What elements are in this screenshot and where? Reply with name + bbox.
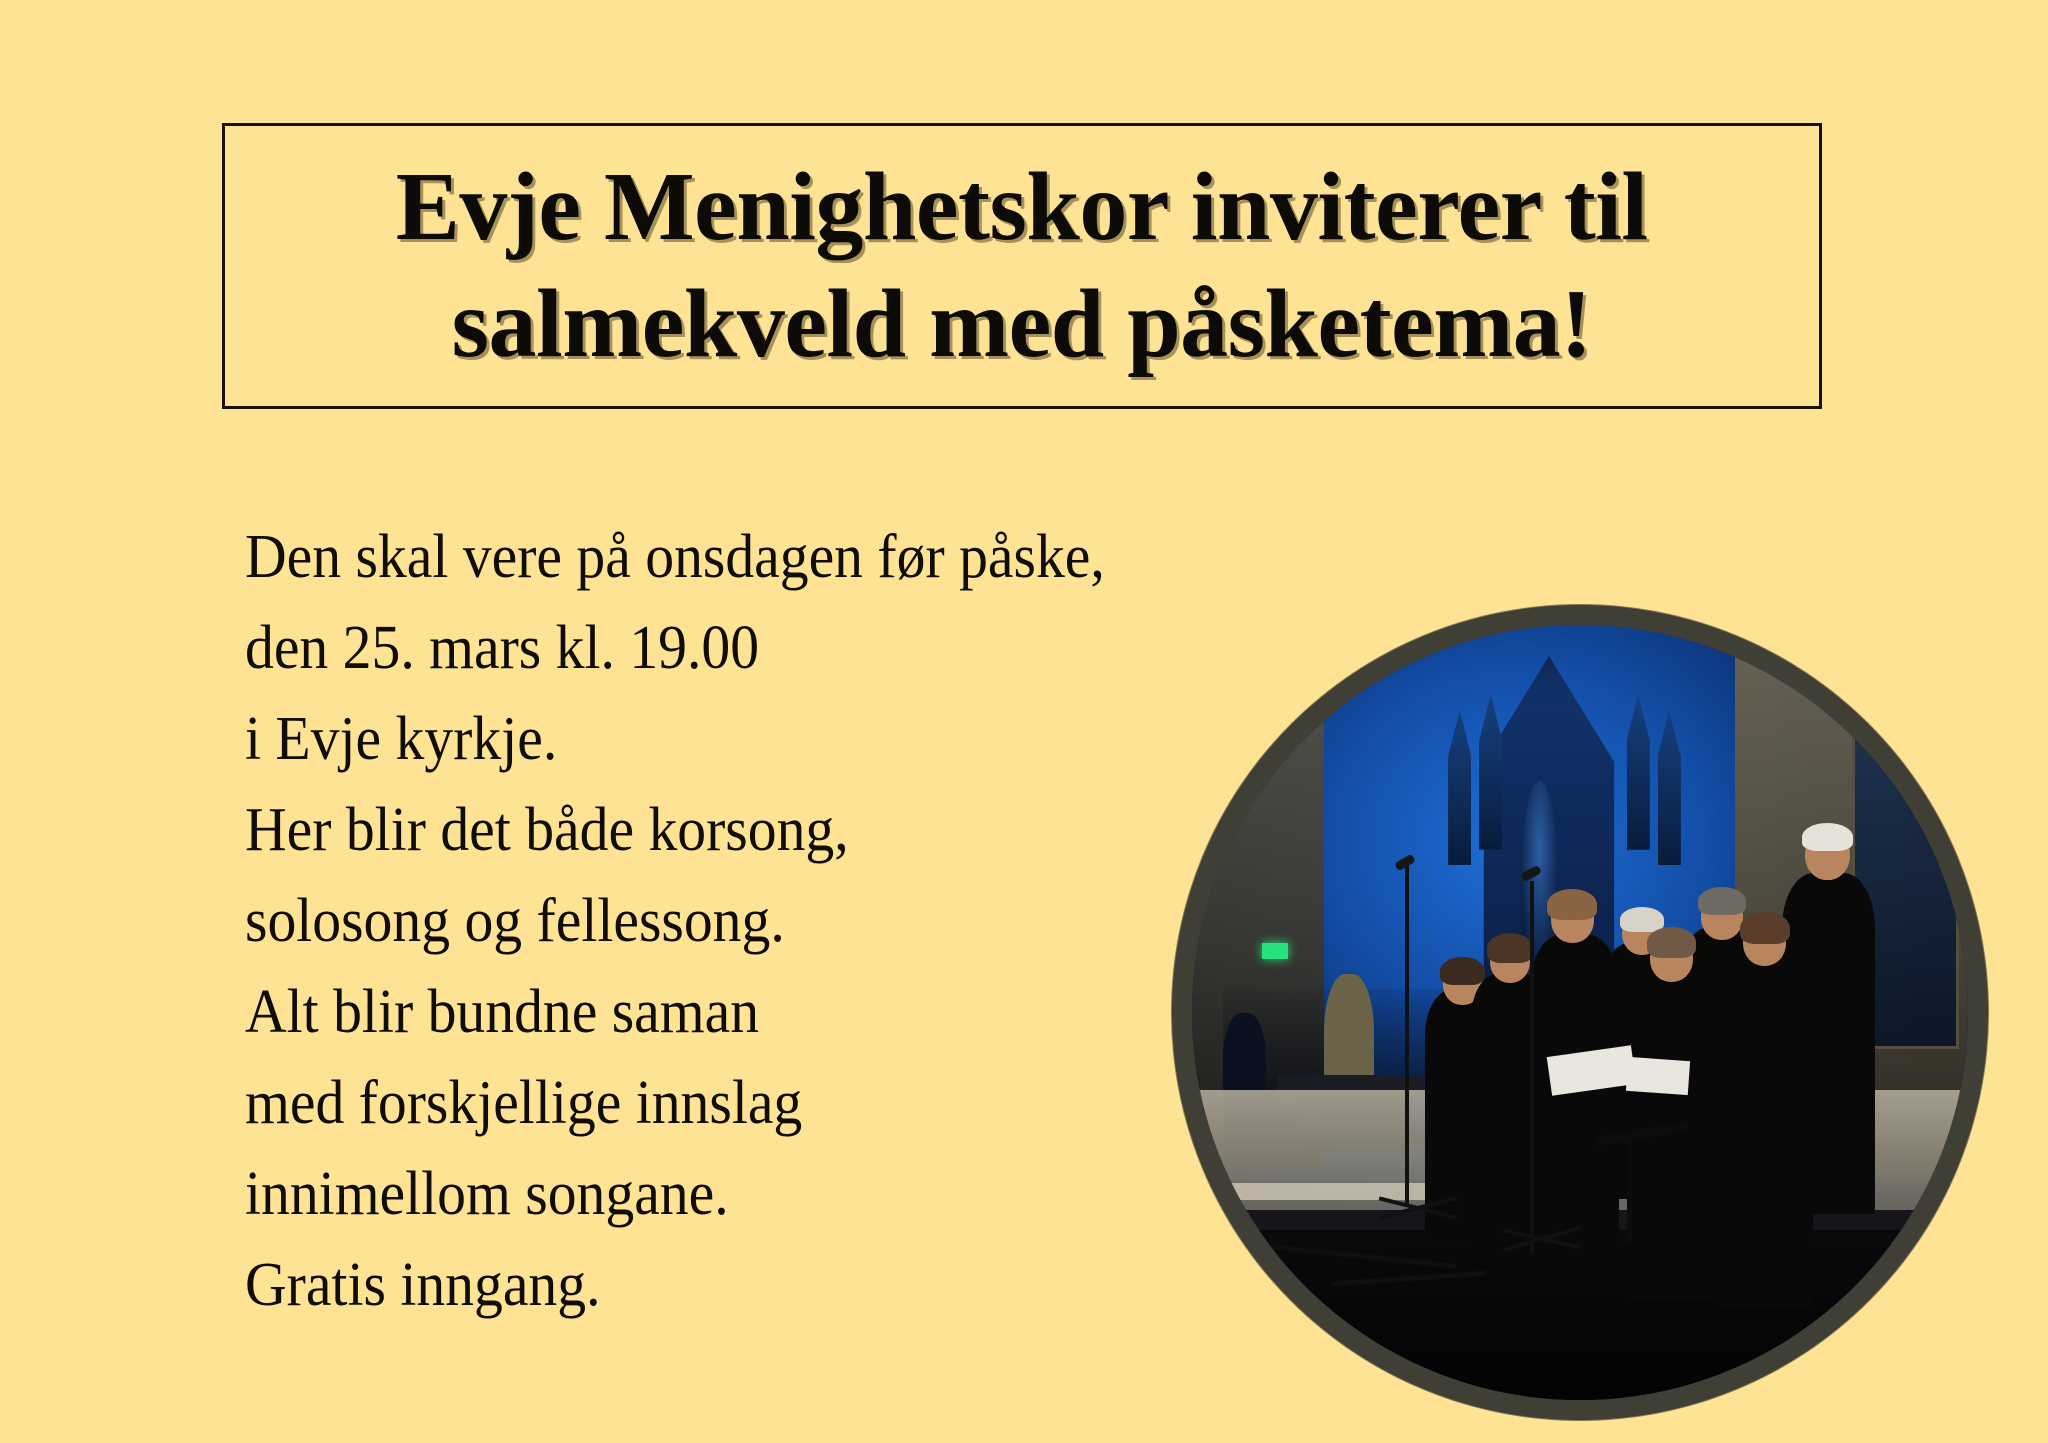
altar-spire-icon [1479,695,1502,850]
music-stand-pole [1627,1137,1632,1246]
choir-member-hair [1740,912,1790,945]
altar-spire-icon [1658,710,1681,865]
body-line: den 25. mars kl. 19.00 [245,603,1063,694]
church-stage-scene [1192,625,1968,1400]
choir-member-hair [1440,957,1485,985]
choir-member-hair [1547,889,1597,920]
poster-body-text: Den skal vere på onsdagen før påske, den… [245,512,1125,1331]
choir-photo-frame [1172,605,1988,1420]
altar-spire-icon [1627,695,1650,850]
choir-member-hair [1487,933,1534,962]
exit-sign-icon [1262,943,1288,959]
choir-member-hair [1698,887,1746,915]
body-line: Her blir det både korsong, [245,785,1063,876]
body-line: med forskjellige innslag [245,1058,1063,1149]
poster-canvas: Evje Menighetskor inviterer til salmekve… [0,0,2048,1443]
microphone-stand [1405,865,1409,1206]
body-line: Den skal vere på onsdagen før påske, [245,512,1063,603]
choir-member [1530,935,1619,1268]
choir-member-hair [1620,907,1663,932]
choir-member [1720,958,1813,1307]
poster-title-line-1: Evje Menighetskor inviterer til [396,146,1648,269]
sheet-music [1625,1057,1689,1095]
choir-photo [1192,625,1968,1400]
body-line: Gratis inngang. [245,1240,1063,1331]
body-line: innimellom songane. [245,1149,1063,1240]
choir-member-hair [1647,927,1697,958]
altar-spire-icon [1448,710,1471,865]
body-line: i Evje kyrkje. [245,694,1063,785]
background-musician [1324,974,1374,1090]
poster-title-line-2: salmekveld med påsketema! [452,263,1592,386]
microphone-stand [1530,881,1534,1253]
body-line: solosong og fellessong. [245,876,1063,967]
title-box: Evje Menighetskor inviterer til salmekve… [222,123,1822,409]
body-line: Alt blir bundne saman [245,967,1063,1058]
choir-member-hair [1802,823,1853,851]
